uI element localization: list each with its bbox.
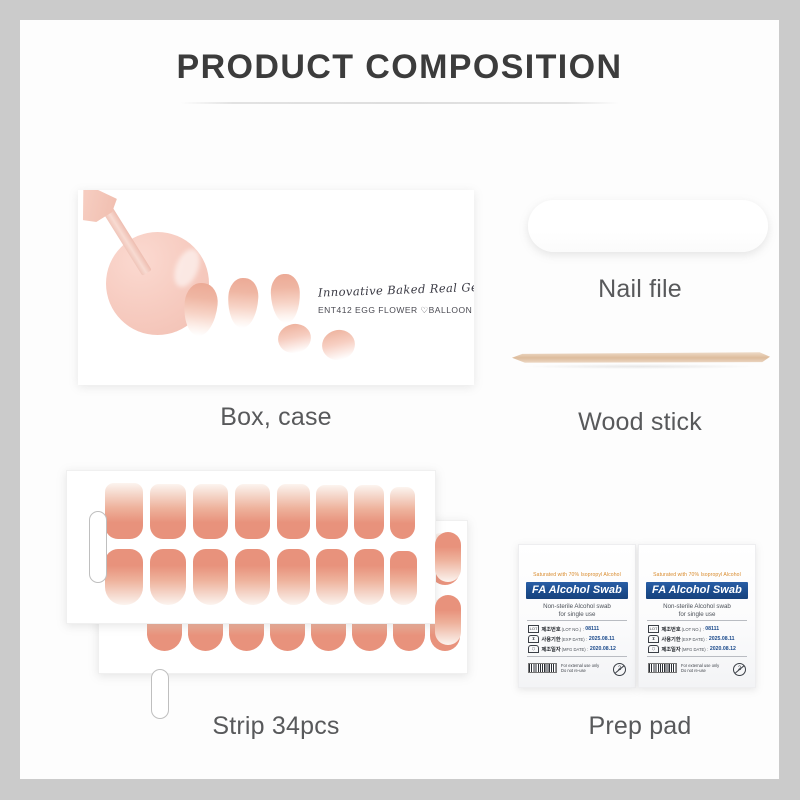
swab-field-label: 사용기한 — [542, 636, 561, 643]
swab-field-colon: : — [586, 637, 587, 642]
nail-wrap — [105, 483, 143, 539]
swab-subtitle: Non-sterile Alcohol swab for single use — [646, 603, 748, 619]
swab-field-mfg: ⬡ 제조일자 (MFG DATE) : 2020.08.12 — [648, 644, 748, 654]
nail-wrap — [235, 549, 270, 605]
caption-nail-file: Nail file — [500, 275, 780, 304]
swab-saturated-text: Saturated with 70% Isopropyl Alcohol — [525, 572, 629, 578]
hourglass-icon: ⧗ — [648, 635, 659, 643]
swab-field-list: LOT 제조번호 (LOT NO.) : 08111 ⧗ 사용기한 (EXP D… — [528, 624, 628, 654]
nail-wrap — [150, 484, 186, 539]
box-script-text: Innovative Baked Real Gel — [318, 280, 468, 299]
swab-usage-note: For external use only Do not re-use — [681, 663, 719, 673]
swab-field-value: 2025.08.11 — [589, 636, 615, 642]
swab-field-exp: ⧗ 사용기한 (EXP DATE) : 2025.08.11 — [528, 634, 628, 644]
swab-field-mfg: ⬡ 제조일자 (MFG DATE) : 2020.08.12 — [528, 644, 628, 654]
swab-field-label-en: (EXP DATE) — [562, 637, 585, 642]
page-title: PRODUCT COMPOSITION — [20, 50, 779, 84]
swab-saturated-text: Saturated with 70% Isopropyl Alcohol — [645, 572, 749, 578]
nail-tip — [227, 277, 260, 329]
swab-title: FA Alcohol Swab — [646, 582, 748, 599]
barcode-icon — [528, 663, 557, 673]
swab-usage-note: For external use only Do not re-use — [561, 663, 599, 673]
caption-strip: Strip 34pcs — [56, 712, 496, 741]
nail-wrap — [105, 549, 143, 605]
swab-field-colon: : — [706, 637, 707, 642]
swab-subtitle-line2: for single use — [646, 611, 748, 619]
swab-field-value: 2025.08.11 — [709, 636, 735, 642]
nail-wrap — [390, 551, 417, 605]
caption-wood-stick: Wood stick — [500, 408, 780, 437]
swab-field-label: 사용기한 — [662, 636, 681, 643]
swab-field-colon: : — [587, 647, 588, 652]
nail-wrap — [277, 484, 310, 539]
swab-field-value: 2020.08.12 — [590, 646, 616, 652]
factory-icon: ⬡ — [648, 645, 659, 653]
swab-field-value: 2020.08.12 — [710, 646, 736, 652]
swab-footer: For external use only Do not re-use 2 — [528, 660, 628, 676]
hourglass-icon: ⧗ — [528, 635, 539, 643]
swab-field-colon: : — [583, 627, 584, 632]
wood-stick-shadow — [526, 364, 754, 369]
sheet-tab-hole — [89, 511, 107, 583]
item-strip: Strip 34pcs — [56, 460, 496, 760]
swab-field-lot: LOT 제조번호 (LOT NO.) : 08111 — [648, 624, 748, 634]
product-composition-card: PRODUCT COMPOSITION Innovative Baked Rea… — [20, 20, 779, 779]
nail-tip — [319, 326, 358, 363]
nail-wrap — [390, 487, 415, 539]
swab-field-label: 제조일자 — [542, 646, 561, 653]
nail-strip-sheet-front — [66, 470, 436, 624]
swab-divider — [647, 656, 747, 657]
swab-subtitle-line2: for single use — [526, 611, 628, 619]
swab-divider — [647, 620, 747, 621]
wood-stick-image — [512, 351, 770, 364]
do-not-reuse-digit: 2 — [734, 664, 745, 675]
item-box-case: Innovative Baked Real Gel ENT412 EGG FLO… — [56, 175, 496, 445]
swab-field-value: 08111 — [585, 626, 599, 632]
nail-wrap — [354, 549, 384, 605]
alcohol-swab-packet: Saturated with 70% Isopropyl Alcohol FA … — [518, 544, 636, 688]
swab-field-label: 제조번호 — [662, 626, 681, 633]
box-case-image: Innovative Baked Real Gel ENT412 EGG FLO… — [78, 190, 474, 385]
swab-usage-note-line2: Do not re-use — [561, 668, 599, 673]
swab-divider — [527, 620, 627, 621]
swab-field-colon: : — [707, 647, 708, 652]
do-not-reuse-icon: 2 — [613, 663, 626, 676]
nail-tip — [270, 274, 301, 324]
nail-wrap-side — [435, 595, 461, 645]
item-nail-file: Nail file — [500, 175, 780, 315]
barcode-icon — [648, 663, 677, 673]
nail-wrap — [193, 549, 228, 605]
swab-field-label-en: (MFG DATE) — [682, 647, 706, 652]
lot-icon: LOT — [528, 625, 539, 633]
alcohol-swab-packet: Saturated with 70% Isopropyl Alcohol FA … — [638, 544, 756, 688]
caption-prep-pad: Prep pad — [500, 712, 780, 741]
swab-field-value: 08111 — [705, 626, 719, 632]
lot-icon: LOT — [648, 625, 659, 633]
heading-block: PRODUCT COMPOSITION — [20, 50, 779, 104]
nail-wrap — [277, 549, 310, 605]
swab-field-label: 제조일자 — [662, 646, 681, 653]
swab-field-colon: : — [703, 627, 704, 632]
swab-field-lot: LOT 제조번호 (LOT NO.) : 08111 — [528, 624, 628, 634]
do-not-reuse-icon: 2 — [733, 663, 746, 676]
swab-subtitle-line1: Non-sterile Alcohol swab — [646, 603, 748, 611]
swab-field-label: 제조번호 — [542, 626, 561, 633]
title-divider — [181, 102, 619, 104]
nail-wrap — [316, 549, 348, 605]
swab-title: FA Alcohol Swab — [526, 582, 628, 599]
swab-field-label-en: (LOT NO.) — [562, 627, 581, 632]
swab-usage-note-line2: Do not re-use — [681, 668, 719, 673]
nail-file-image — [528, 200, 768, 252]
caption-box-case: Box, case — [56, 403, 496, 432]
swab-field-exp: ⧗ 사용기한 (EXP DATE) : 2025.08.11 — [648, 634, 748, 644]
item-wood-stick: Wood stick — [500, 320, 780, 450]
item-prep-pad: Saturated with 70% Isopropyl Alcohol FA … — [500, 460, 780, 760]
do-not-reuse-digit: 2 — [614, 664, 625, 675]
swab-field-label-en: (EXP DATE) — [682, 637, 705, 642]
nail-wrap — [193, 484, 228, 539]
nail-wrap — [316, 485, 348, 539]
swab-field-label-en: (LOT NO.) — [682, 627, 701, 632]
nail-wrap — [354, 485, 384, 539]
swab-footer: For external use only Do not re-use 2 — [648, 660, 748, 676]
nail-tip — [275, 321, 313, 356]
factory-icon: ⬡ — [528, 645, 539, 653]
swab-subtitle: Non-sterile Alcohol swab for single use — [526, 603, 628, 619]
swab-divider — [527, 656, 627, 657]
nail-wrap — [150, 549, 186, 605]
swab-field-label-en: (MFG DATE) — [562, 647, 586, 652]
box-product-code: ENT412 EGG FLOWER ♡BALLOON — [318, 305, 468, 316]
screenshot-root: PRODUCT COMPOSITION Innovative Baked Rea… — [0, 0, 800, 800]
nail-wrap — [235, 484, 270, 539]
swab-subtitle-line1: Non-sterile Alcohol swab — [526, 603, 628, 611]
swab-field-list: LOT 제조번호 (LOT NO.) : 08111 ⧗ 사용기한 (EXP D… — [648, 624, 748, 654]
nail-wrap-side — [435, 532, 461, 582]
